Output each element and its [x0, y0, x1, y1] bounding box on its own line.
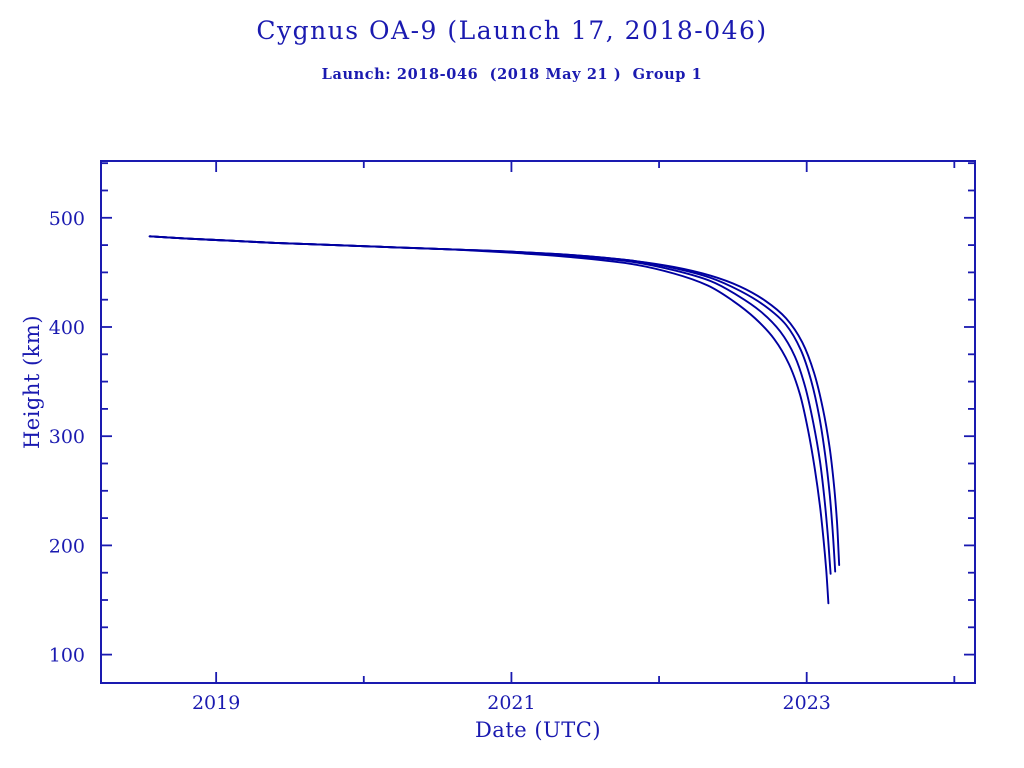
- plot-frame: [101, 161, 975, 683]
- axis-ticks: [101, 161, 975, 683]
- decay-curve: [150, 236, 831, 573]
- y-tick-label: 100: [49, 645, 85, 667]
- decay-curve: [150, 236, 829, 603]
- decay-curve: [150, 236, 835, 571]
- axis-tick-labels: 201920212023100200300400500: [49, 208, 831, 714]
- y-tick-label: 300: [49, 426, 85, 448]
- plot-area: 201920212023100200300400500: [0, 0, 1024, 768]
- orbital-decay-chart: Cygnus OA-9 (Launch 17, 2018-046) Launch…: [0, 0, 1024, 768]
- y-tick-label: 400: [49, 317, 85, 339]
- data-series-group: [150, 236, 839, 603]
- axes-frame: [101, 161, 975, 683]
- x-tick-label: 2021: [487, 692, 535, 714]
- x-tick-label: 2023: [783, 692, 831, 714]
- x-tick-label: 2019: [192, 692, 240, 714]
- y-tick-label: 500: [49, 208, 85, 230]
- y-tick-label: 200: [49, 535, 85, 557]
- decay-curve: [150, 236, 839, 565]
